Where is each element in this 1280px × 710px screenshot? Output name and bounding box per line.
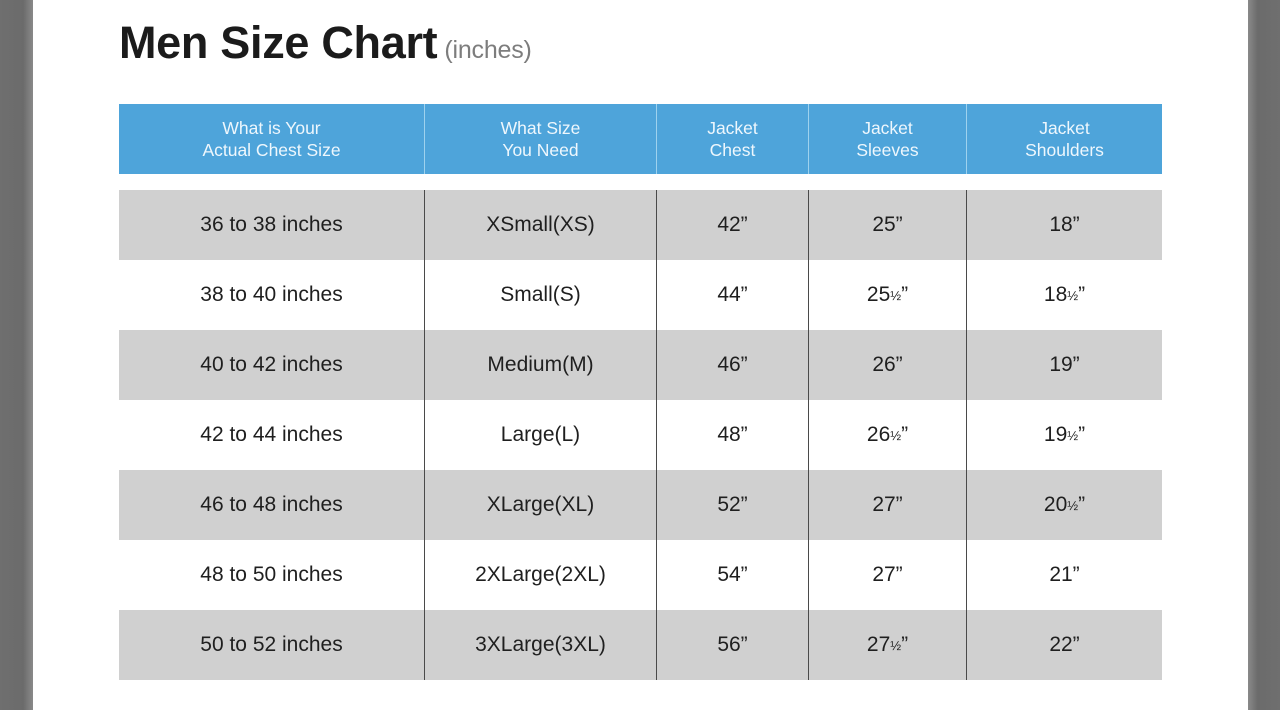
column-header-actual-chest-size: What is Your Actual Chest Size (119, 104, 425, 174)
table-row: 42 to 44 inches Large(L) 48” 26½” 19½” (119, 400, 1162, 470)
column-header-line1: Jacket (1039, 117, 1090, 139)
column-header-line2: Shoulders (1025, 139, 1104, 161)
page-title: Men Size Chart(inches) (119, 20, 532, 65)
cell-jacket-sleeves: 27” (809, 470, 967, 540)
table-header-row: What is Your Actual Chest Size What Size… (119, 104, 1162, 174)
table-row: 36 to 38 inches XSmall(XS) 42” 25” 18” (119, 190, 1162, 260)
page-title-main: Men Size Chart (119, 17, 437, 68)
column-header-line1: Jacket (862, 117, 913, 139)
column-header-line1: Jacket (707, 117, 758, 139)
cell-chest-size: 50 to 52 inches (119, 610, 425, 680)
table-row: 46 to 48 inches XLarge(XL) 52” 27” 20½” (119, 470, 1162, 540)
table-row: 40 to 42 inches Medium(M) 46” 26” 19” (119, 330, 1162, 400)
cell-jacket-shoulders: 18” (967, 190, 1162, 260)
cell-jacket-chest: 46” (657, 330, 809, 400)
cell-size-needed: XSmall(XS) (425, 190, 657, 260)
table-row: 48 to 50 inches 2XLarge(2XL) 54” 27” 21” (119, 540, 1162, 610)
cell-chest-size: 42 to 44 inches (119, 400, 425, 470)
page-title-unit: (inches) (444, 36, 531, 64)
column-header-jacket-chest: Jacket Chest (657, 104, 809, 174)
cell-jacket-chest: 42” (657, 190, 809, 260)
column-header-line2: Chest (710, 139, 756, 161)
column-header-line2: Actual Chest Size (202, 139, 340, 161)
cell-jacket-shoulders: 20½” (967, 470, 1162, 540)
cell-size-needed: Large(L) (425, 400, 657, 470)
cell-jacket-sleeves: 27½” (809, 610, 967, 680)
cell-jacket-sleeves: 25½” (809, 260, 967, 330)
cell-chest-size: 46 to 48 inches (119, 470, 425, 540)
table-row: 50 to 52 inches 3XLarge(3XL) 56” 27½” 22… (119, 610, 1162, 680)
letterbox-right-bar (1248, 0, 1280, 710)
column-header-line2: You Need (502, 139, 578, 161)
cell-jacket-sleeves: 26½” (809, 400, 967, 470)
cell-jacket-chest: 52” (657, 470, 809, 540)
table-body: 36 to 38 inches XSmall(XS) 42” 25” 18” 3… (119, 190, 1162, 680)
cell-size-needed: Small(S) (425, 260, 657, 330)
cell-chest-size: 48 to 50 inches (119, 540, 425, 610)
cell-jacket-sleeves: 25” (809, 190, 967, 260)
cell-jacket-shoulders: 22” (967, 610, 1162, 680)
letterbox-left-bar (0, 0, 33, 710)
cell-jacket-shoulders: 21” (967, 540, 1162, 610)
column-header-line1: What Size (501, 117, 581, 139)
cell-size-needed: Medium(M) (425, 330, 657, 400)
cell-jacket-chest: 44” (657, 260, 809, 330)
cell-jacket-chest: 56” (657, 610, 809, 680)
table-row: 38 to 40 inches Small(S) 44” 25½” 18½” (119, 260, 1162, 330)
column-header-jacket-shoulders: Jacket Shoulders (967, 104, 1162, 174)
column-header-line2: Sleeves (856, 139, 918, 161)
cell-size-needed: 2XLarge(2XL) (425, 540, 657, 610)
column-header-size-you-need: What Size You Need (425, 104, 657, 174)
cell-jacket-chest: 48” (657, 400, 809, 470)
header-body-gap (119, 174, 1162, 190)
cell-jacket-sleeves: 26” (809, 330, 967, 400)
cell-jacket-shoulders: 19½” (967, 400, 1162, 470)
cell-jacket-shoulders: 19” (967, 330, 1162, 400)
column-header-line1: What is Your (222, 117, 320, 139)
cell-jacket-sleeves: 27” (809, 540, 967, 610)
cell-chest-size: 40 to 42 inches (119, 330, 425, 400)
slide-canvas: Men Size Chart(inches) What is Your Actu… (33, 0, 1248, 710)
cell-jacket-chest: 54” (657, 540, 809, 610)
cell-chest-size: 38 to 40 inches (119, 260, 425, 330)
screenshot-viewport: Men Size Chart(inches) What is Your Actu… (0, 0, 1280, 710)
size-chart-table: What is Your Actual Chest Size What Size… (119, 104, 1162, 680)
cell-jacket-shoulders: 18½” (967, 260, 1162, 330)
cell-chest-size: 36 to 38 inches (119, 190, 425, 260)
cell-size-needed: XLarge(XL) (425, 470, 657, 540)
cell-size-needed: 3XLarge(3XL) (425, 610, 657, 680)
column-header-jacket-sleeves: Jacket Sleeves (809, 104, 967, 174)
